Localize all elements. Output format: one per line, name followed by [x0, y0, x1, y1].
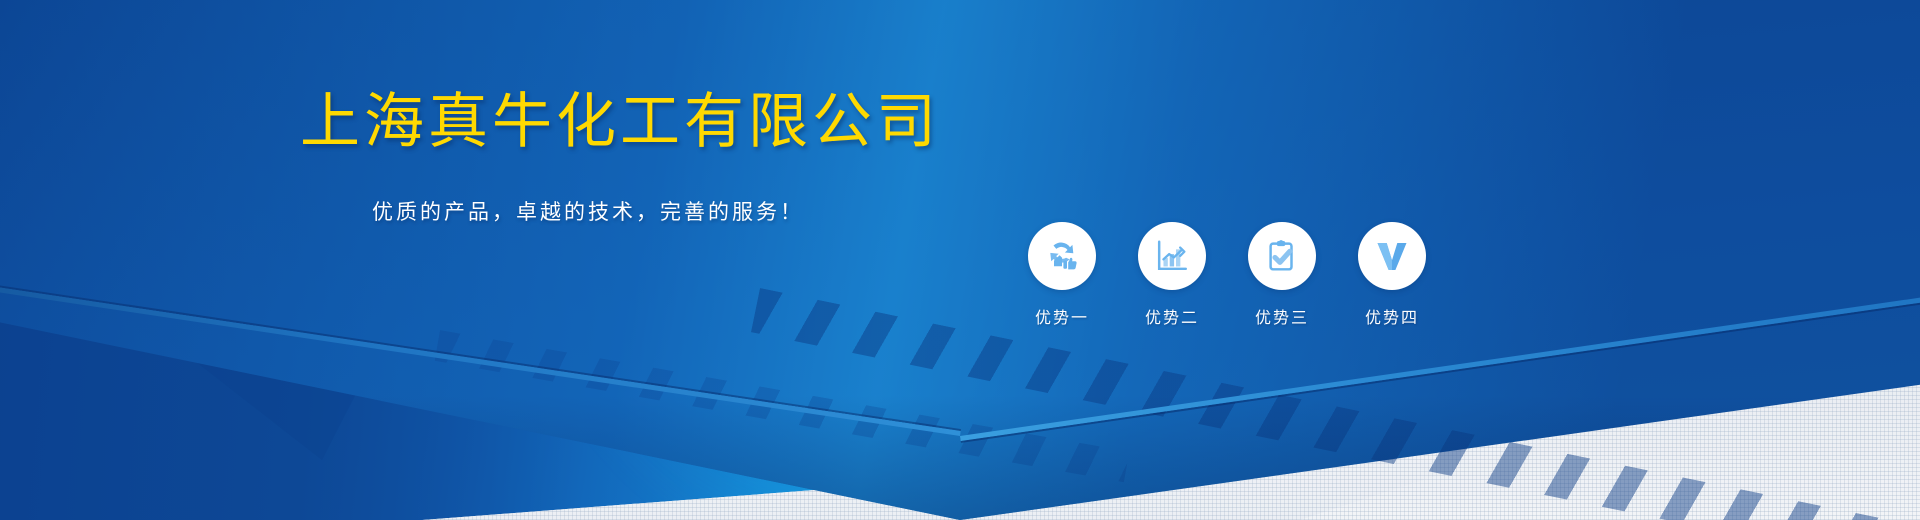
advantage-item-4[interactable]: 优势四 — [1358, 222, 1426, 328]
letter-v-icon — [1372, 236, 1412, 276]
bar-chart-growth-icon — [1153, 237, 1191, 275]
advantage-label-2: 优势二 — [1145, 304, 1199, 328]
banner-content: 上海真牛化工有限公司 优质的产品，卓越的技术，完善的服务！ 优势一 — [0, 0, 1920, 520]
clipboard-check-icon — [1263, 237, 1301, 275]
company-hero-banner: 上海真牛化工有限公司 优质的产品，卓越的技术，完善的服务！ 优势一 — [0, 0, 1920, 520]
company-title: 上海真牛化工有限公司 — [300, 92, 940, 152]
advantage-icon-circle-1 — [1028, 222, 1096, 290]
advantage-icon-circle-4 — [1358, 222, 1426, 290]
advantage-item-1[interactable]: 优势一 — [1028, 222, 1096, 328]
advantage-item-2[interactable]: 优势二 — [1138, 222, 1206, 328]
advantage-icon-circle-3 — [1248, 222, 1316, 290]
advantage-label-4: 优势四 — [1365, 304, 1419, 328]
advantage-icon-circle-2 — [1138, 222, 1206, 290]
company-slogan: 优质的产品，卓越的技术，完善的服务！ — [372, 196, 804, 226]
advantages-row: 优势一 优势二 — [1028, 222, 1426, 328]
advantage-item-3[interactable]: 优势三 — [1248, 222, 1316, 328]
advantage-label-3: 优势三 — [1255, 304, 1309, 328]
advantage-label-1: 优势一 — [1035, 304, 1089, 328]
refresh-thumbs-up-icon — [1042, 236, 1082, 276]
